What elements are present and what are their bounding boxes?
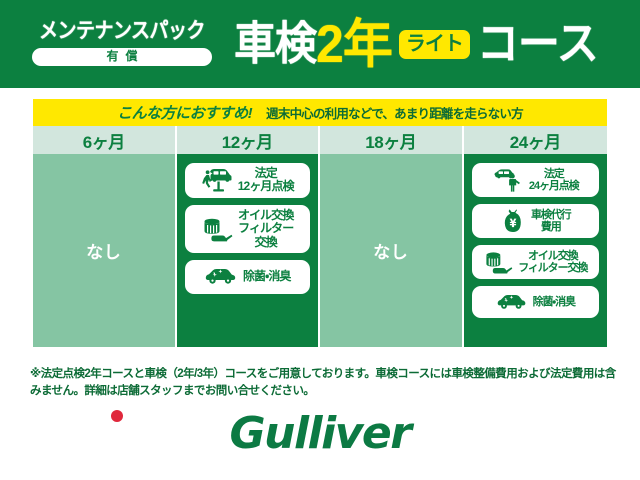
service-label: 法定 24ヶ月点検 [529,168,579,193]
service-label: 除菌・消臭 [533,296,575,308]
service-label: 法定 12ヶ月点検 [238,167,294,194]
service-card: オイル交換 フィルター 交換 [185,205,311,253]
month-column-12: 法定 12ヶ月点検 [177,154,321,347]
none-label: なし [373,238,408,263]
header-banner: メンテナンスパック 有償 車検 2年 ライト コース [0,0,640,88]
month-header-label: 24ヶ月 [510,128,561,153]
car-inspection-person-icon [492,167,524,193]
recommendation-headline: こんな方におすすめ! [117,102,252,123]
none-label: なし [86,238,121,263]
car-sanitize-icon [496,293,528,312]
month-header-24: 24ヶ月 [464,126,608,154]
month-header-row: 6ヶ月 12ヶ月 18ヶ月 24ヶ月 [33,126,607,154]
service-card: 車検代行 費用 [472,204,600,238]
car-sanitize-icon [204,267,238,287]
service-card: 法定 12ヶ月点検 [185,163,311,198]
month-body-row: なし [33,154,607,347]
month-header-6: 6ヶ月 [33,126,177,154]
course-title: 車検 2年 ライト コース [234,19,640,69]
money-bag-yen-icon [500,208,526,234]
month-header-label: 12ヶ月 [222,128,273,153]
month-column-6: なし [33,154,177,347]
recommendation-banner: こんな方におすすめ! 週末中心の利用などで、あまり距離を走らない方 [33,99,607,126]
service-label: オイル交換 フィルター 交換 [238,209,294,249]
service-card: 除菌・消臭 [185,260,311,294]
course-title-course: コース [477,21,598,66]
maintenance-table: こんな方におすすめ! 週末中心の利用などで、あまり距離を走らない方 6ヶ月 12… [33,99,607,347]
month-column-24: 法定 24ヶ月点検 車検代行 費用 [464,154,608,347]
service-label: オイル交換 フィルター交換 [518,250,587,275]
oil-filter-change-icon [483,249,513,275]
month-header-12: 12ヶ月 [177,126,321,154]
service-label: 車検代行 費用 [531,209,571,234]
gulliver-logo: Gulliver [0,408,640,459]
service-card: 法定 24ヶ月点検 [472,163,600,197]
gulliver-logo-text: Gulliver [230,408,411,459]
month-header-label: 6ヶ月 [83,128,125,153]
service-card: 除菌・消臭 [472,286,600,318]
service-label: 除菌・消臭 [243,270,291,283]
month-column-18: なし [320,154,464,347]
course-title-years: 2年 [316,18,392,71]
paid-pill-label: 有償 [32,48,212,67]
footnote-text: ※法定点検2年コースと車検（2年/3年）コースをご用意しております。車検コースに… [30,366,616,399]
car-lift-inspection-icon [201,167,233,193]
maintenance-pack-title: メンテナンスパック [39,20,205,41]
course-title-shaken: 車検 [234,21,316,66]
maintenance-pack-badge: メンテナンスパック 有償 [22,22,222,67]
month-header-label: 18ヶ月 [365,128,416,153]
month-header-18: 18ヶ月 [320,126,464,154]
service-card: オイル交換 フィルター交換 [472,245,600,279]
recommendation-detail: 週末中心の利用などで、あまり距離を走らない方 [266,103,523,122]
gulliver-logo-dot-icon [111,410,123,422]
light-course-badge: ライト [399,30,470,59]
oil-filter-change-icon [201,215,233,243]
